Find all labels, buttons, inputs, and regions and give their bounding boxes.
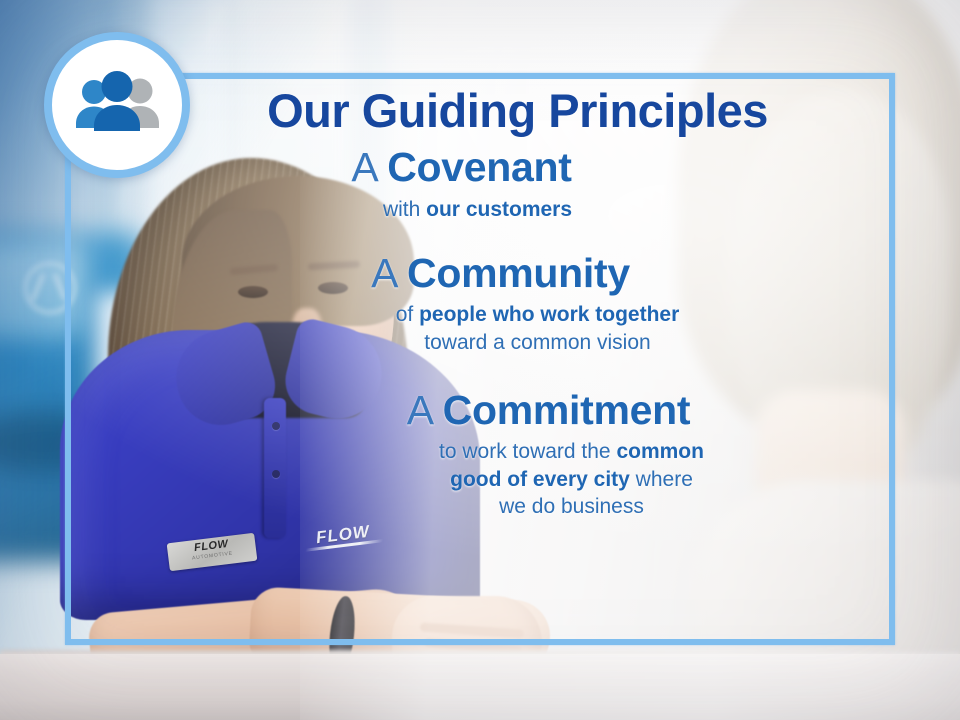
subtitle-lead: to work toward the	[439, 440, 616, 463]
principle-commitment: A Commitment to work toward the commongo…	[150, 386, 885, 520]
subtitle-lead: of	[396, 303, 419, 326]
subtitle-line-2: toward a common vision	[424, 331, 650, 354]
principle-community: A Community of people who work togethert…	[150, 249, 885, 356]
principle-keyword: Commitment	[443, 387, 691, 433]
subtitle-lead: with	[383, 198, 426, 221]
principle-community-subtitle: of people who work togethertoward a comm…	[150, 301, 885, 356]
subtitle-emphasis-2: good of every city	[450, 468, 630, 491]
banner-graphic: FLOW AUTOMOTIVE FLOW	[0, 0, 960, 720]
principles-copy-block: Our Guiding Principles A Covenant with o…	[150, 86, 885, 520]
subtitle-line-3: we do business	[499, 495, 644, 518]
principle-article: A	[351, 144, 387, 190]
page-title: Our Guiding Principles	[150, 86, 885, 135]
subtitle-emphasis: common	[616, 440, 704, 463]
principle-covenant-title: A Covenant	[150, 143, 885, 191]
principle-commitment-title: A Commitment	[150, 386, 885, 434]
principle-keyword: Covenant	[387, 144, 571, 190]
subtitle-tail: where	[630, 468, 693, 491]
principle-covenant-subtitle: with our customers	[150, 196, 885, 223]
subtitle-emphasis: our customers	[426, 198, 572, 221]
principle-community-title: A Community	[150, 249, 885, 297]
principle-commitment-subtitle: to work toward the commongood of every c…	[150, 438, 885, 520]
principle-covenant: A Covenant with our customers	[150, 143, 885, 223]
principle-article: A	[407, 387, 443, 433]
principle-keyword: Community	[407, 250, 630, 296]
subtitle-emphasis: people who work together	[419, 303, 679, 326]
principle-article: A	[371, 250, 407, 296]
